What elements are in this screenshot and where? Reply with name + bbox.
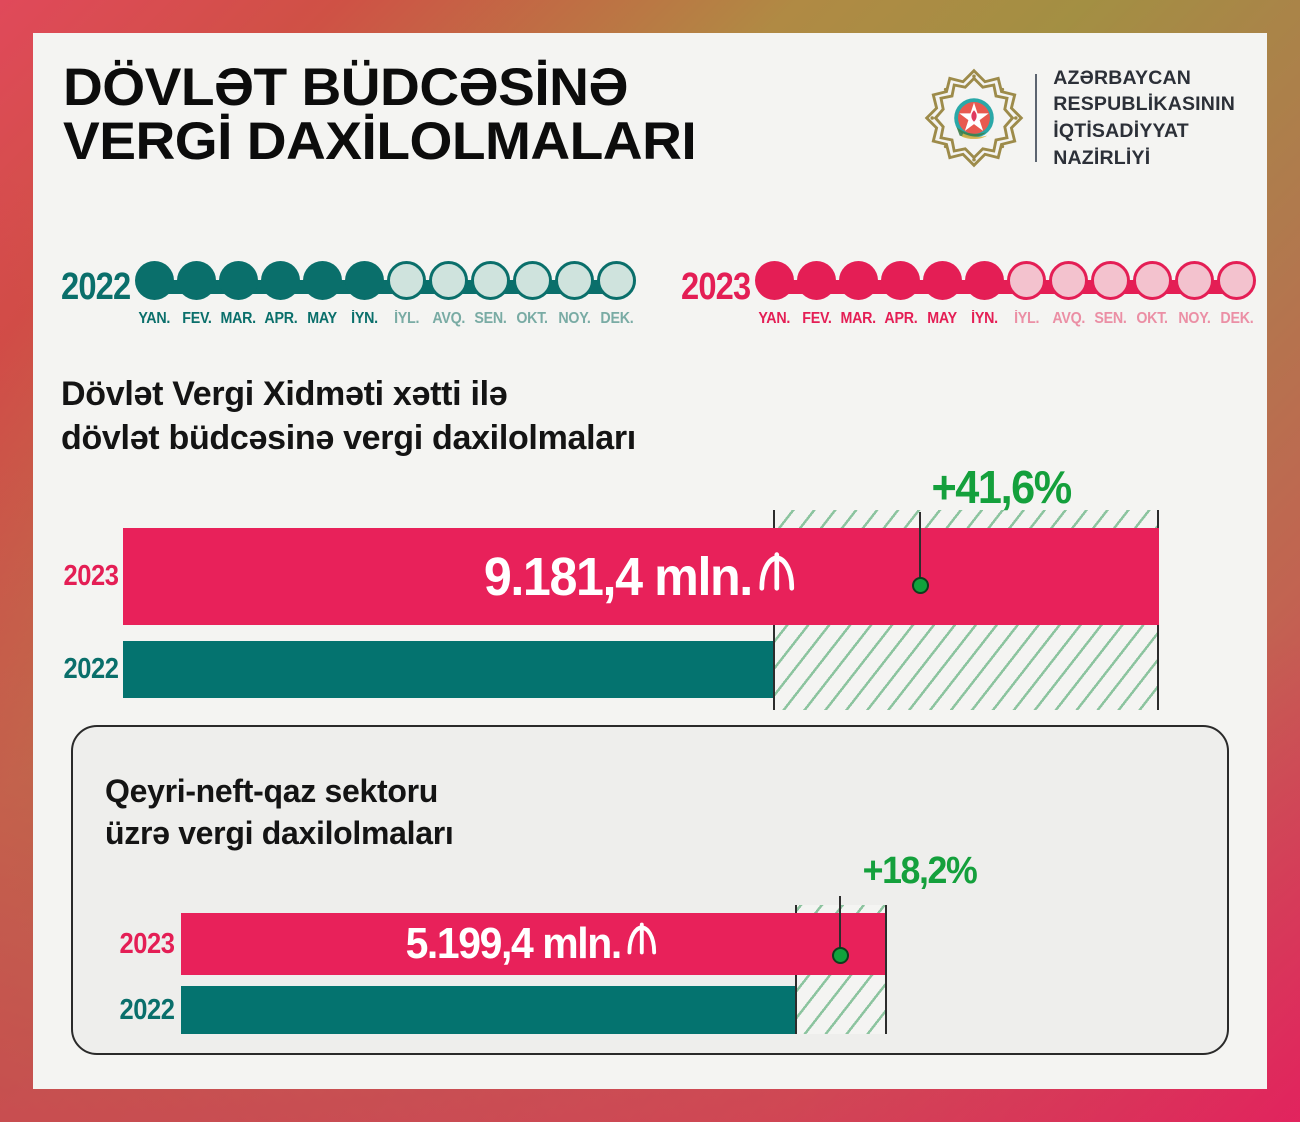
- section-1-heading: Dövlət Vergi Xidməti xətti ilə dövlət bü…: [61, 373, 636, 460]
- month-label: NOY.: [1178, 310, 1210, 328]
- section-2-heading-line-1: Qeyri-neft-qaz sektoru: [105, 771, 454, 813]
- bar-label-2023-total: 2023: [64, 560, 119, 593]
- azerbaijan-state-emblem-icon: [919, 63, 1029, 173]
- month-dot-icon: [303, 261, 342, 300]
- timeline-2023-year: 2023: [681, 261, 750, 313]
- bar-label-2022-total: 2022: [64, 653, 119, 686]
- bar-label-2022-nonoil: 2022: [120, 994, 175, 1027]
- month-dot-icon: [177, 261, 216, 300]
- timeline-2023-month-fev: FEV.: [796, 261, 838, 328]
- logo-divider: [1035, 74, 1037, 162]
- month-dot-icon: [797, 261, 836, 300]
- timeline-2023-month-iyl: İYL.: [1006, 261, 1048, 328]
- bar-2023-nonoil-number: 5.199,4 mln.: [406, 919, 621, 969]
- month-dot-icon: [1007, 261, 1046, 300]
- timeline-2023-month-yan: YAN.: [754, 261, 796, 328]
- timeline-2023-month-mar: MAR.: [838, 261, 880, 328]
- ministry-name-line-2: RESPUBLİKASININ: [1053, 91, 1235, 118]
- ministry-logo: AZƏRBAYCAN RESPUBLİKASININ İQTİSADİYYAT …: [919, 63, 1235, 173]
- section-2-heading: Qeyri-neft-qaz sektoru üzrə vergi daxilo…: [105, 771, 454, 854]
- month-label: İYL.: [1014, 310, 1039, 328]
- month-label: SEN.: [474, 310, 506, 328]
- month-dot-icon: [1049, 261, 1088, 300]
- month-dot-icon: [923, 261, 962, 300]
- month-dot-icon: [1217, 261, 1256, 300]
- timeline-2022-month-avq: AVQ.: [428, 261, 470, 328]
- timeline-2023-month-sen: SEN.: [1090, 261, 1132, 328]
- month-label: MAR.: [841, 310, 876, 328]
- month-label: OKT.: [1137, 310, 1168, 328]
- month-dot-icon: [471, 261, 510, 300]
- month-label: FEV.: [182, 310, 211, 328]
- month-label: OKT.: [517, 310, 548, 328]
- month-dot-icon: [965, 261, 1004, 300]
- growth-value-total: +41,6%: [931, 460, 1070, 514]
- ministry-name: AZƏRBAYCAN RESPUBLİKASININ İQTİSADİYYAT …: [1053, 65, 1235, 171]
- month-label: MAR.: [221, 310, 256, 328]
- month-label: İYL.: [394, 310, 419, 328]
- timeline-2022-month-sen: SEN.: [470, 261, 512, 328]
- timeline-2023-month-okt: OKT.: [1132, 261, 1174, 328]
- month-dot-icon: [881, 261, 920, 300]
- timeline-2022-month-mar: MAR.: [218, 261, 260, 328]
- section-1-heading-line-2: dövlət büdcəsinə vergi daxilolmaları: [61, 417, 636, 461]
- bar-2023-total-number: 9.181,4 mln.: [484, 546, 752, 608]
- timeline-2023-month-iyn: İYN.: [964, 261, 1006, 328]
- month-dot-icon: [755, 261, 794, 300]
- infographic-frame: DÖVLƏT BÜDCƏSİNƏ VERGİ DAXİLOLMALARI: [0, 0, 1300, 1122]
- month-dot-icon: [1175, 261, 1214, 300]
- manat-currency-icon: [755, 546, 798, 608]
- timeline-2022-month-noy: NOY.: [554, 261, 596, 328]
- page-title: DÖVLƏT BÜDCƏSİNƏ VERGİ DAXİLOLMALARI: [63, 61, 885, 169]
- bar-2023-total-value: 9.181,4 mln.: [484, 546, 799, 608]
- month-dot-icon: [429, 261, 468, 300]
- chart-total-tax-revenue: 9.181,4 mln. 2023 2022 +: [61, 488, 1201, 733]
- bar-label-2023-nonoil: 2023: [120, 928, 175, 961]
- month-label: YAN.: [139, 310, 171, 328]
- bar-2023-nonoil: 5.199,4 mln.: [181, 913, 885, 975]
- month-dot-icon: [555, 261, 594, 300]
- month-label: İYN.: [971, 310, 998, 328]
- timeline-2022-track: YAN. FEV. MAR. APR. MAY İYN. İYL. AVQ. S…: [134, 261, 638, 328]
- month-label: APR.: [264, 310, 297, 328]
- month-dot-icon: [839, 261, 878, 300]
- timeline-2022-month-okt: OKT.: [512, 261, 554, 328]
- section-1-heading-line-1: Dövlət Vergi Xidməti xətti ilə: [61, 373, 636, 417]
- infographic-canvas: DÖVLƏT BÜDCƏSİNƏ VERGİ DAXİLOLMALARI: [33, 33, 1267, 1089]
- month-label: MAY: [928, 310, 958, 328]
- timeline-2023-month-dek: DEK.: [1216, 261, 1258, 328]
- timeline-2022-month-yan: YAN.: [134, 261, 176, 328]
- month-dot-icon: [387, 261, 426, 300]
- timeline-2022-year: 2022: [61, 261, 130, 313]
- month-label: İYN.: [351, 310, 378, 328]
- timeline-2023-month-noy: NOY.: [1174, 261, 1216, 328]
- month-dot-icon: [261, 261, 300, 300]
- bar-label-row-2023-total: 2023: [61, 528, 119, 625]
- month-dot-icon: [1091, 261, 1130, 300]
- timeline-2022-month-fev: FEV.: [176, 261, 218, 328]
- bar-label-row-2023-nonoil: 2023: [113, 913, 175, 975]
- ministry-name-line-3: İQTİSADİYYAT: [1053, 118, 1235, 145]
- manat-currency-icon: [625, 919, 660, 969]
- month-label: YAN.: [759, 310, 791, 328]
- chart-non-oil-gas-tax-revenue: 5.199,4 mln. 2023 2022 +: [113, 888, 913, 1028]
- month-dot-icon: [1133, 261, 1172, 300]
- month-label: AVQ.: [1052, 310, 1085, 328]
- month-label: DEK.: [600, 310, 633, 328]
- month-label: SEN.: [1094, 310, 1126, 328]
- month-label: FEV.: [802, 310, 831, 328]
- title-line-1: DÖVLƏT BÜDCƏSİNƏ: [63, 58, 628, 117]
- growth-stem-total: [919, 512, 921, 584]
- ministry-name-line-4: NAZİRLİYİ: [1053, 145, 1235, 172]
- growth-stem-nonoil: [839, 896, 841, 954]
- hatch-right-edge-2: [885, 905, 887, 1034]
- timeline-2022-month-iyn: İYN.: [344, 261, 386, 328]
- month-dot-icon: [597, 261, 636, 300]
- month-label: AVQ.: [432, 310, 465, 328]
- growth-dot-nonoil: [832, 947, 849, 964]
- growth-dot-total: [912, 577, 929, 594]
- timeline-2023-track: YAN. FEV. MAR. APR. MAY İYN. İYL. AVQ. S…: [754, 261, 1258, 328]
- ministry-name-line-1: AZƏRBAYCAN: [1053, 65, 1235, 92]
- timeline-2022: 2022 YAN. FEV. MAR. APR. MAY İYN. İYL. A…: [61, 261, 638, 328]
- bar-label-row-2022-nonoil: 2022: [113, 986, 175, 1034]
- month-label: MAY: [308, 310, 338, 328]
- month-label: NOY.: [558, 310, 590, 328]
- timeline-2023-month-apr: APR.: [880, 261, 922, 328]
- timeline-2022-month-dek: DEK.: [596, 261, 638, 328]
- bar-2023-nonoil-value: 5.199,4 mln.: [406, 919, 660, 969]
- timeline-2023-month-may: MAY: [922, 261, 964, 328]
- month-dot-icon: [135, 261, 174, 300]
- timeline-2023: 2023 YAN. FEV. MAR. APR. MAY İYN. İYL. A…: [681, 261, 1258, 328]
- month-label: DEK.: [1220, 310, 1253, 328]
- bar-label-row-2022-total: 2022: [61, 641, 119, 698]
- month-dot-icon: [345, 261, 384, 300]
- timeline-2023-month-avq: AVQ.: [1048, 261, 1090, 328]
- bar-2022-nonoil: [181, 986, 795, 1034]
- timeline-2022-month-apr: APR.: [260, 261, 302, 328]
- growth-value-nonoil: +18,2%: [863, 850, 977, 893]
- month-label: APR.: [884, 310, 917, 328]
- month-dot-icon: [513, 261, 552, 300]
- timeline-2022-month-may: MAY: [302, 261, 344, 328]
- timeline-2022-month-iyl: İYL.: [386, 261, 428, 328]
- bar-2022-total: [123, 641, 773, 698]
- section-2-heading-line-2: üzrə vergi daxilolmaları: [105, 813, 454, 855]
- month-dot-icon: [219, 261, 258, 300]
- title-line-2: VERGİ DAXİLOLMALARI: [63, 115, 885, 169]
- bar-2023-total: 9.181,4 mln.: [123, 528, 1159, 625]
